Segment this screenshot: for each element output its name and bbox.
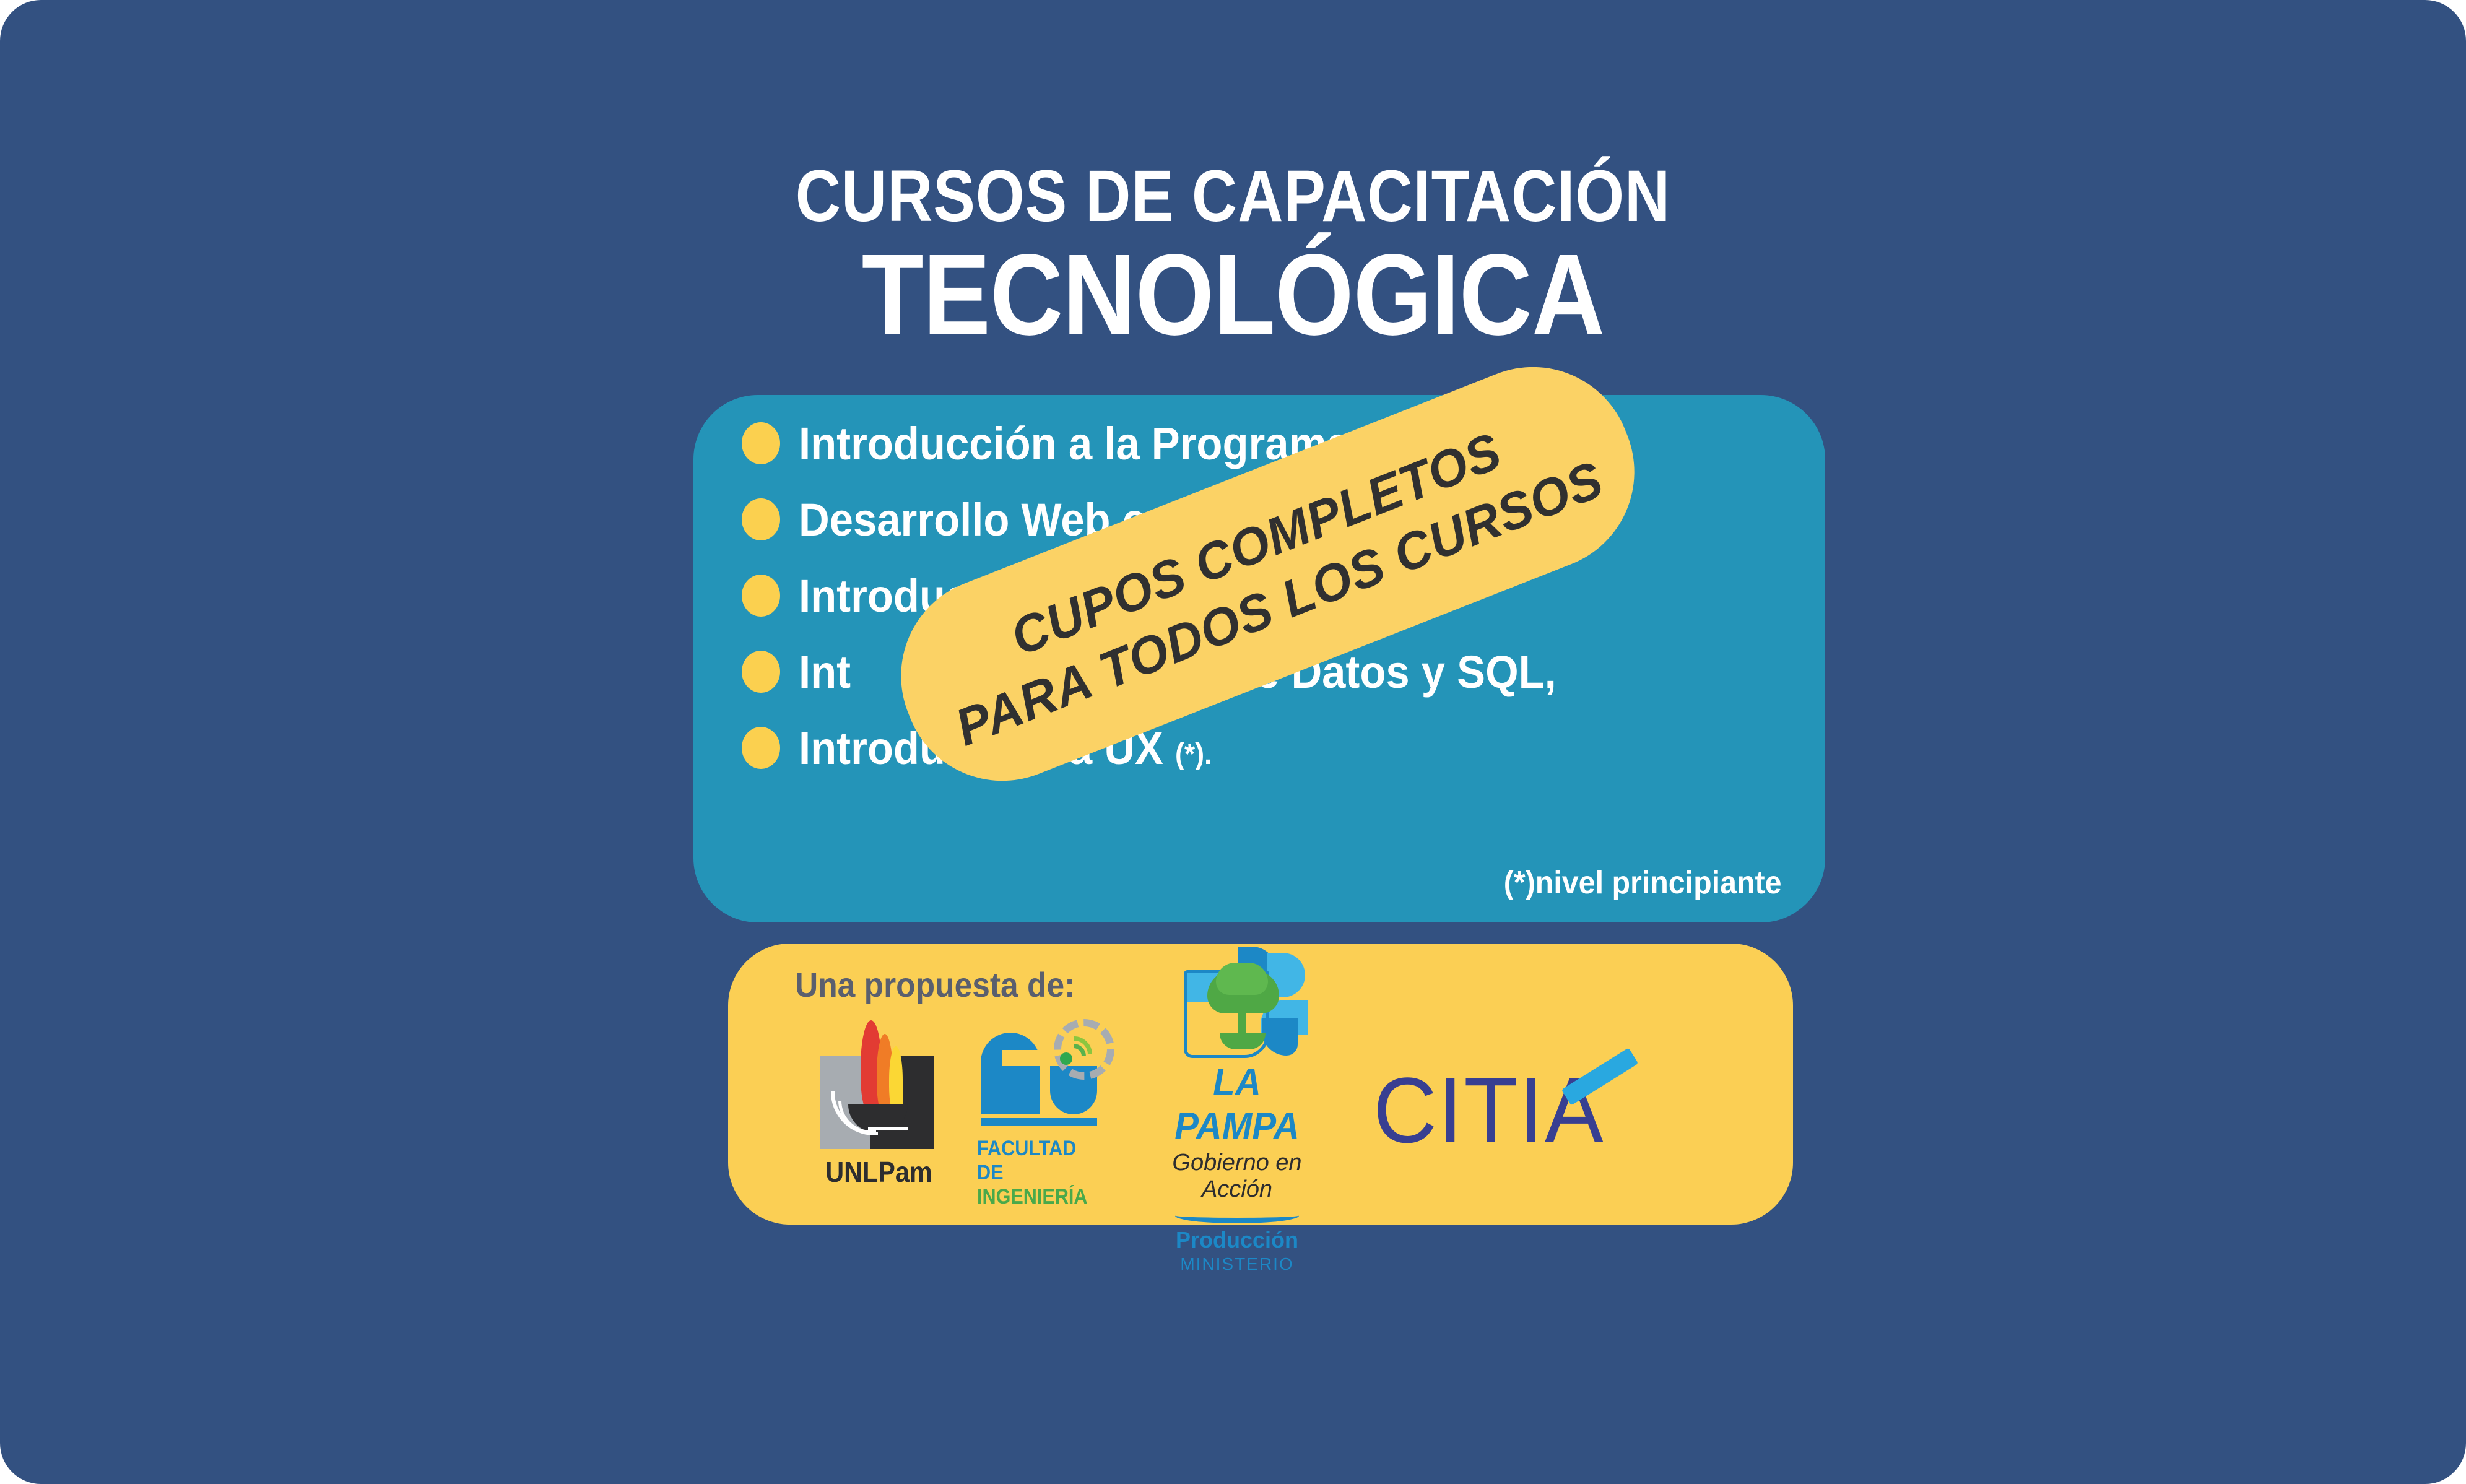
fi-wordmark-line2: INGENIERÍA [977,1185,1088,1209]
unlpam-mark-icon [820,1031,934,1149]
courses-footnote: (*)nivel principiante [1504,864,1782,901]
citia-logo: CITIA [1373,1064,1633,1156]
course-item-5: Introducción a UX (*). [742,719,1800,776]
poster-canvas: CURSOS DE CAPACITACIÓN TECNOLÓGICA Intro… [0,0,2466,1484]
tree-canopy-top-icon [1216,963,1268,995]
bullet-icon [742,727,780,769]
fi-f-crossbar [1002,1066,1040,1083]
unlpam-wordmark: UNLPam [825,1155,928,1189]
fi-monogram-icon [977,1012,1101,1129]
la-pampa-org: MINISTERIO [1144,1254,1330,1274]
wifi-dot-icon [1060,1052,1072,1065]
la-pampa-tagline: Gobierno en Acción [1144,1150,1330,1203]
sponsor-logo-row: UNLPam FACULTAD DE INGENIERÍA [795,1010,1756,1210]
poster-title: CURSOS DE CAPACITACIÓN TECNOLÓGICA [0,160,2466,354]
la-pampa-map-icon [1163,947,1311,1058]
la-pampa-wordmark: LA PAMPA [1150,1061,1324,1148]
fi-underline [981,1118,1097,1126]
title-line-2: TECNOLÓGICA [148,236,2318,354]
sponsor-panel: Una propuesta de: UNLPam [728,944,1793,1225]
bullet-icon [742,498,780,540]
fi-wordmark-line1: FACULTAD DE [977,1137,1088,1185]
la-pampa-area: Producción [1144,1227,1330,1253]
facultad-ingenieria-logo: FACULTAD DE INGENIERÍA [977,1012,1101,1209]
course-note-5: (*). [1175,738,1212,771]
swoosh-divider-icon [1175,1208,1299,1223]
sponsor-label: Una propuesta de: [795,965,1075,1005]
bullet-icon [742,575,780,617]
flame-yellow-icon [889,1046,903,1113]
course-name-4: Int [799,646,851,698]
la-pampa-logo: LA PAMPA Gobierno en Acción Producción M… [1144,947,1330,1274]
title-line-1: CURSOS DE CAPACITACIÓN [173,160,2293,233]
unlpam-logo: UNLPam [820,1031,934,1189]
feather-quill-icon [868,1127,908,1130]
bullet-icon [742,422,780,464]
bullet-icon [742,651,780,693]
